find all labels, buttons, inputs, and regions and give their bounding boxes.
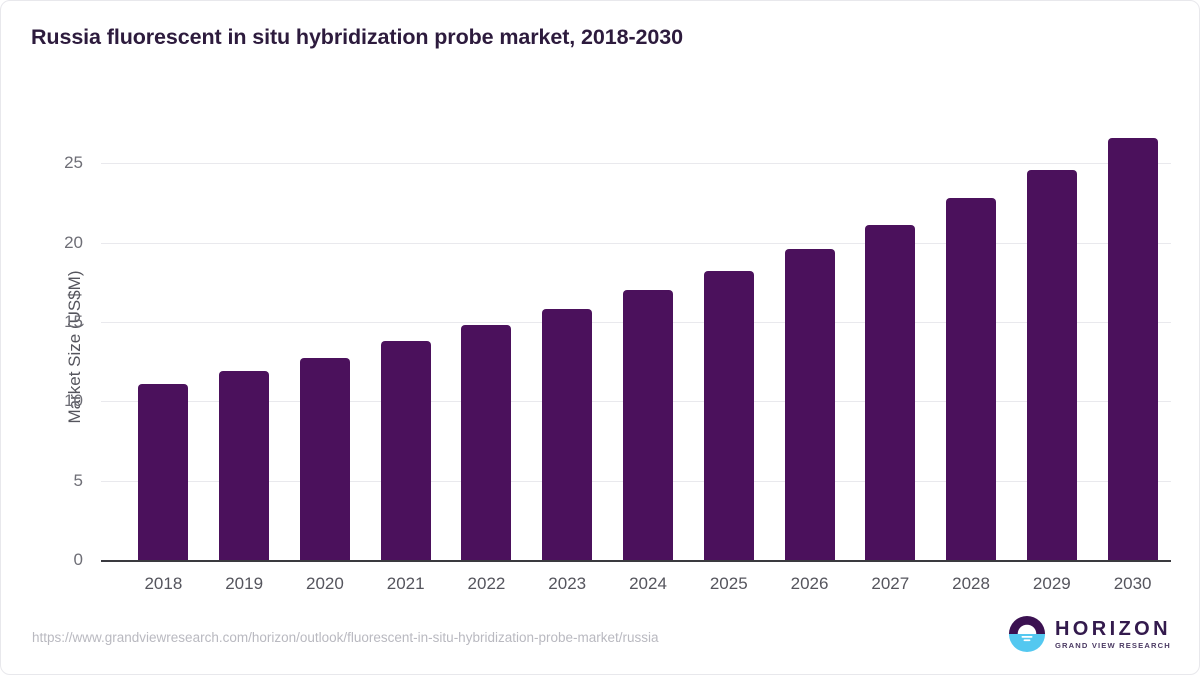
x-axis-tick-label: 2019 [199,574,289,594]
x-axis-tick-label: 2027 [845,574,935,594]
gridline [101,243,1171,244]
y-axis-tick-label: 10 [3,391,83,411]
bar[interactable] [623,290,673,560]
brand-text: HORIZON GRAND VIEW RESEARCH [1055,619,1171,650]
bar[interactable] [865,225,915,560]
page-title: Russia fluorescent in situ hybridization… [31,25,683,50]
y-axis-title: Market Size (US$M) [65,117,85,577]
y-axis-tick-label: 15 [3,312,83,332]
x-axis-tick-label: 2025 [684,574,774,594]
x-axis-tick-label: 2018 [118,574,208,594]
y-axis-tick-label: 5 [3,471,83,491]
bar[interactable] [946,198,996,560]
brand-name: HORIZON [1055,619,1171,639]
x-axis-tick-label: 2028 [926,574,1016,594]
x-axis-tick-label: 2026 [765,574,855,594]
y-axis-tick-label: 25 [3,153,83,173]
x-axis-tick-label: 2020 [280,574,370,594]
x-axis-tick-label: 2022 [441,574,531,594]
x-axis-tick-label: 2021 [361,574,451,594]
y-axis-tick-label: 20 [3,233,83,253]
horizon-logo-icon [1008,615,1046,653]
brand-logo: HORIZON GRAND VIEW RESEARCH [1008,615,1171,653]
bar[interactable] [300,358,350,560]
source-url[interactable]: https://www.grandviewresearch.com/horizo… [32,630,659,645]
bar[interactable] [542,309,592,560]
x-axis-line [101,560,1171,562]
chart-card: Russia fluorescent in situ hybridization… [0,0,1200,675]
x-axis-tick-label: 2030 [1088,574,1178,594]
x-axis-tick-label: 2023 [522,574,612,594]
bar[interactable] [704,271,754,560]
x-axis-tick-label: 2029 [1007,574,1097,594]
bar[interactable] [1027,170,1077,560]
bar[interactable] [138,384,188,560]
bar[interactable] [461,325,511,560]
gridline [101,163,1171,164]
y-axis-tick-label: 0 [3,550,83,570]
bar[interactable] [785,249,835,560]
bar[interactable] [1108,138,1158,560]
bar[interactable] [381,341,431,560]
x-axis-tick-label: 2024 [603,574,693,594]
bar[interactable] [219,371,269,560]
plot-area: Market Size (US$M) 0510152025 [101,133,1171,560]
brand-tagline: GRAND VIEW RESEARCH [1055,642,1171,650]
